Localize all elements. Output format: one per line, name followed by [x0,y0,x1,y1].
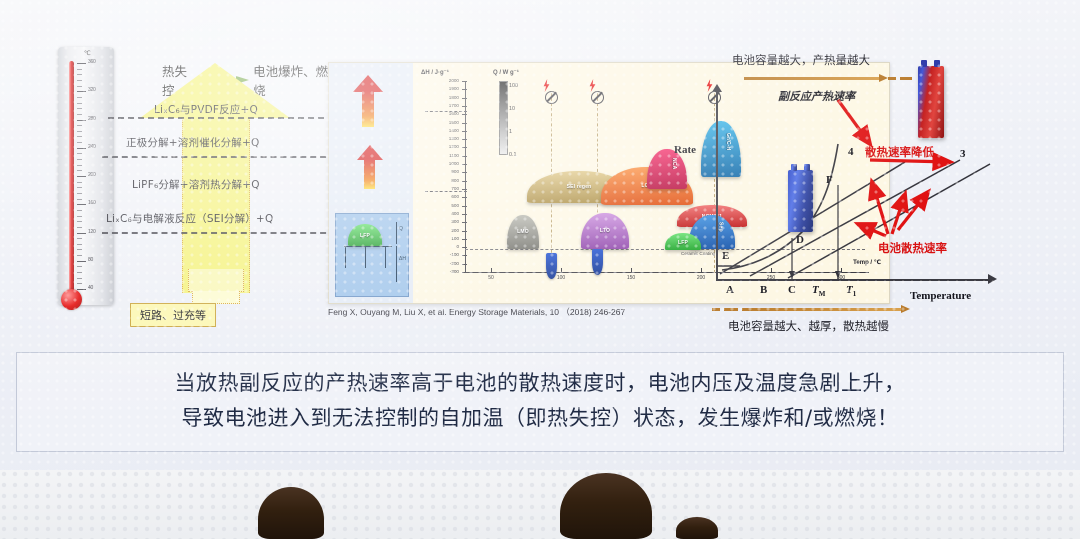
conclusion-line-1: 当放热副反应的产热速率高于电池的散热速度时，电池内压及温度急剧上升， [17,353,1063,398]
right-y-axis-arrow [712,84,722,92]
mid-y-tick [462,81,467,82]
reaction-label-3: LiPF₆分解+溶剂热分解+Q [132,177,260,192]
inset-tick-2 [365,246,366,268]
mid-y-tick-label: 0 [433,244,459,249]
inset-peak-label: LFP [348,233,382,239]
mid-y-tick-label: 1400 [433,128,459,133]
mid-y-tick-label: 200 [433,228,459,233]
mid-y-tick-label: 1500 [433,120,459,125]
mid-y-tick [462,164,467,165]
mid-colorbar-tick-label: 10 [509,106,515,112]
thermometer-minor-tick [77,131,82,132]
mid-y-tick [462,123,467,124]
mid-dash-1800 [425,111,467,112]
fire-bolt-icon-2 [588,79,597,92]
stage-divider-2 [102,156,336,158]
right-y-axis [716,90,718,280]
thermometer-tick-label: 160 [88,200,95,206]
thermometer-minor-tick [77,69,82,70]
vial-icon-2 [592,249,603,275]
heat-generation-curve-label: 副反应产热速率 [778,88,855,104]
inset-tick-1 [345,246,346,268]
thermometer-tick-mark [77,63,86,64]
point-label-d: D [796,234,804,246]
reaction-text-3: LiPF₆分解+溶剂热分解+Q [132,179,260,191]
point-label-f-text: F [826,174,833,186]
trigger-box: 短路、过充等 [130,303,216,327]
right-chart-curves [660,52,1068,340]
mid-y-tick-label: 600 [433,194,459,199]
thermometer-tick-label: 320 [88,87,95,93]
bottom-brown-arrow [742,308,902,311]
thermometer-tick-label: 80 [88,257,93,263]
red-arrow-large-icon [353,75,383,92]
mid-y-tick-label: 1000 [433,161,459,166]
arrow-shaft-step-2 [188,269,244,292]
mid-colorbar-tick-label: 1 [509,129,512,135]
thermometer-minor-tick [77,249,82,250]
screenshot-root: 热失控 电池爆炸、燃烧 ℃ 3603202802402001601208040 [0,0,1080,539]
thermometer-minor-tick [77,221,82,222]
thermometer-minor-tick [77,86,82,87]
thermometer-minor-tick [77,74,82,75]
mid-x-tick [491,268,492,273]
thermometer-tick-label: 240 [88,144,95,150]
mid-y-tick [462,264,467,265]
peak-lmo: LMO [507,215,539,249]
peak-label-lto: LTO [581,228,629,234]
mid-y-tick [462,89,467,90]
mid-x-tick [631,268,632,273]
annotation-dissipation-drop: 散热速率降低 [865,144,934,160]
slide-conclusion-box: 当放热副反应的产热速率高于电池的散热速度时，电池内压及温度急剧上升， 导致电池进… [16,352,1064,452]
battery-cell-large [918,66,944,138]
inset-peak-lfp: LFP [348,224,382,246]
thermometer-minor-tick [77,159,82,160]
right-x-tick-label: A [726,284,734,296]
right-x-axis [716,279,990,281]
battery-cell-small [788,170,813,232]
mid-y-tick [462,139,467,140]
mid-y-tick [462,214,467,215]
thermometer-minor-tick [77,80,82,81]
mid-y-tick-label: 1700 [433,103,459,108]
vial-icon-1 [546,253,557,279]
mid-y-tick [462,147,467,148]
mid-y-tick-label: 500 [433,203,459,208]
mid-y-tick [462,189,467,190]
thermometer-minor-tick [77,193,82,194]
annotation-dissipation-drop-text: 散热速率降低 [865,145,934,159]
battery-cell-small-tab-1 [791,164,797,171]
mid-y-tick-label: -200 [433,261,459,266]
thermometer-minor-tick [77,125,82,126]
trigger-box-label: 短路、过充等 [140,309,206,322]
thermometer: ℃ 3603202802402001601208040 [58,47,114,305]
thermometer-unit-label: ℃ [84,50,91,57]
mid-y-tick [462,255,467,256]
thermometer-minor-tick [77,278,82,279]
battery-cell-large-tab-1 [921,60,927,67]
point-label-3: 3 [960,148,966,160]
mid-dash-800 [425,191,467,192]
mid-y-tick-label: 2000 [433,78,459,83]
right-bottom-caption: 电池容量越大、越厚，散热越慢 [728,318,889,334]
mid-y-tick [462,247,467,248]
mid-y-tick [462,98,467,99]
thermometer-tick-label: 280 [88,116,95,122]
right-x-tick-label: T1 [846,284,856,298]
inset-q-bracket [396,222,397,244]
right-chart-red-arrows [660,52,1068,340]
thermometer-minor-tick [77,165,82,166]
stage-divider-1 [108,117,334,119]
thermometer-minor-tick [77,136,82,137]
thermometer-minor-tick [77,108,82,109]
top-brown-dash-2 [900,77,912,80]
wall-texture [0,470,1080,539]
right-x-tick-label: B [760,284,767,296]
annotation-dissipation-rate: 电池散热速率 [878,240,947,256]
thermometer-tick-label: 200 [88,172,95,178]
thermometer-minor-tick [77,153,82,154]
thermometer-minor-tick [77,227,82,228]
mid-y-tick [462,114,467,115]
mid-y-tick-label: 800 [433,178,459,183]
right-top-caption-text: 电池容量越大，产热量越大 [732,53,870,67]
thermometer-minor-tick [77,103,82,104]
peak-lto: LTO [581,213,629,249]
thermometer-mercury-tube [69,61,74,291]
thermometer-minor-tick [77,272,82,273]
point-label-e: E [722,250,729,262]
right-top-caption: 电池容量越大，产热量越大 [732,52,870,68]
inset-tick-3 [385,246,386,268]
point-label-4: 4 [848,146,854,158]
mid-y-tick-label: -100 [433,252,459,257]
mid-colorbar-tick-label: 100 [509,83,518,89]
presentation-slide: 热失控 电池爆炸、燃烧 ℃ 3603202802402001601208040 [0,0,1080,470]
right-y-axis-label: Rate [674,144,696,156]
stage-divider-3 [102,232,336,234]
mid-colorbar-tick-label: 0.1 [509,152,517,158]
mid-y-tick-label: 100 [433,236,459,241]
reaction-label-4: LiₓC₆与电解液反应（SEI分解）+Q [106,211,273,226]
mid-y-tick [462,181,467,182]
reaction-label-2: 正极分解+溶剂催化分解+Q [126,135,259,150]
thermometer-tick-label: 120 [88,229,95,235]
thermometer-minor-tick [77,114,82,115]
right-x-axis-arrow [988,274,997,284]
thermometer-minor-tick [77,266,82,267]
reaction-text-1: LiₓC₆与PVDF反应+Q [154,104,258,116]
left-panel-thermal-stages: 热失控 电池爆炸、燃烧 ℃ 3603202802402001601208040 [44,25,334,325]
mid-y-tick [462,206,467,207]
mid-y-tick-label: 1900 [433,86,459,91]
thermometer-minor-tick [77,244,82,245]
no-fire-badge-2 [591,91,604,104]
red-arrow-large-body [362,91,374,127]
mid-y-tick [462,156,467,157]
mid-y-tick-label: 1100 [433,153,459,158]
top-brown-arrow [744,77,880,80]
thermometer-tick-mark [77,261,86,262]
mid-y-tick [462,172,467,173]
reaction-label-1: LiₓC₆与PVDF反应+Q [154,102,258,117]
mid-y-tick [462,106,467,107]
mid-y-tick [462,131,467,132]
figure-citation: Feng X, Ouyang M, Liu X, et al. Energy S… [328,306,625,318]
thermometer-tick-mark [77,91,86,92]
mid-x-tick-label: 50 [479,275,503,281]
thermometer-minor-tick [77,283,82,284]
bottom-brown-dash-1 [712,308,720,311]
audience-head-right [676,517,718,539]
thermometer-tick-label: 40 [88,285,93,291]
mid-y-tick-label: 1300 [433,136,459,141]
inset-dh-bracket [396,246,397,282]
thermometer-tick-mark [77,176,86,177]
no-fire-badge-1 [545,91,558,104]
mid-y-tick-label: 300 [433,219,459,224]
thermometer-tick-mark [77,204,86,205]
thermometer-minor-tick [77,142,82,143]
conclusion-line-2: 导致电池进入到无法控制的自加温（即热失控）状态，发生爆炸和/或燃烧！ [17,398,1063,433]
annotation-dissipation-rate-text: 电池散热速率 [878,241,947,255]
right-x-axis-label: Temperature [910,290,971,302]
point-label-3-text: 3 [960,148,966,160]
heat-generation-curve-text: 副反应产热速率 [778,91,855,103]
mid-y-tick-label: 400 [433,211,459,216]
thermometer-tick-label: 360 [88,59,95,65]
thermometer-minor-tick [77,170,82,171]
mid-y-tick-label: 900 [433,169,459,174]
mid-x-tick-label: 150 [619,275,643,281]
fire-bolt-icon-1 [542,79,551,92]
mid-y-tick [462,197,467,198]
thermometer-minor-tick [77,238,82,239]
mid-y-tick [462,239,467,240]
right-x-tick-label: C [788,284,796,296]
thermometer-scale: 3603202802402001601208040 [77,59,111,293]
bottom-brown-dash-2 [724,308,738,311]
right-x-tick-label: TM [812,284,825,298]
figure-inset-panel: LFP Q ΔH [335,213,409,297]
thermometer-minor-tick [77,187,82,188]
mid-x-tick [561,268,562,273]
thermometer-minor-tick [77,199,82,200]
thermometer-tick-mark [77,120,86,121]
right-panel-rate-chart: 电池容量越大，产热量越大 副反应产热速率 Rate Temperature [660,52,1068,340]
mid-y-axis [465,81,466,273]
red-arrow-small-body [364,159,375,189]
right-bottom-caption-text: 电池容量越大、越厚，散热越慢 [728,319,889,333]
battery-cell-small-tab-2 [804,164,810,171]
inset-dh-label: ΔH [399,256,406,262]
thermometer-minor-tick [77,255,82,256]
inset-q-label: Q [399,226,403,232]
reaction-text-2: 正极分解+溶剂催化分解+Q [126,137,259,149]
mid-colorbar [499,81,508,155]
point-label-4-text: 4 [848,146,854,158]
thermometer-minor-tick [77,182,82,183]
red-arrow-small-icon [357,145,383,160]
thermometer-minor-tick [77,216,82,217]
mid-y-tick-label: -300 [433,269,459,274]
peak-label-lmo: LMO [507,229,539,235]
auditorium-wall [0,470,1080,539]
point-label-d-text: D [796,234,804,246]
thermometer-tick-mark [77,289,86,290]
thermometer-tick-mark [77,233,86,234]
point-label-f: F [826,174,833,186]
mid-y-tick-label: 1200 [433,144,459,149]
top-brown-dash-1 [888,77,896,80]
reaction-text-4: LiₓC₆与电解液反应（SEI分解）+Q [106,213,273,225]
mid-y-tick-label: 1800 [433,95,459,100]
mid-legend-label: Q / W g⁻¹ [493,69,519,76]
thermometer-minor-tick [77,97,82,98]
point-label-e-text: E [722,250,729,262]
mid-y-tick [462,222,467,223]
thermometer-tick-mark [77,148,86,149]
mid-y-tick [462,231,467,232]
mid-y-axis-label: ΔH / J·g⁻¹ [421,69,449,76]
mid-y-tick [462,272,467,273]
battery-cell-large-tab-2 [934,60,940,67]
thermometer-minor-tick [77,210,82,211]
